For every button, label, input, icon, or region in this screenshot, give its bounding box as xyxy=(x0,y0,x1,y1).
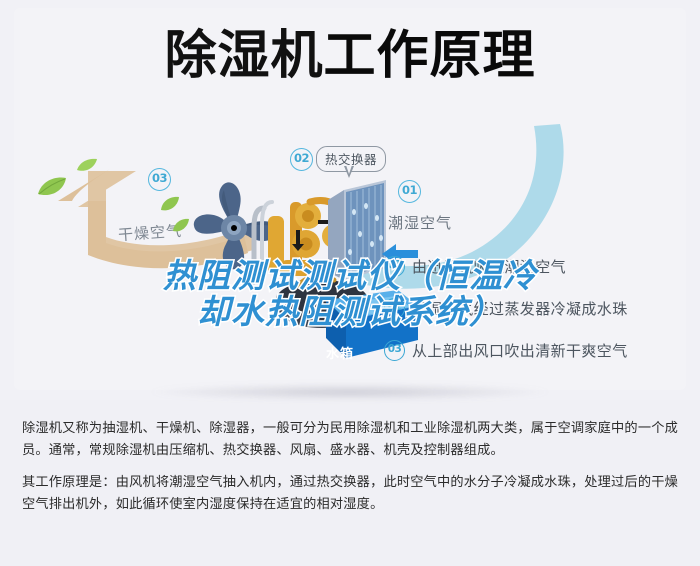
water-tank-label: 水箱 xyxy=(326,343,354,362)
page-title-part1: 除湿机 xyxy=(164,26,323,86)
badge-02-diagram: 02 xyxy=(290,148,313,171)
step-text: 潮湿空气经过蒸发器冷凝成水珠 xyxy=(412,298,628,319)
step-item: 03 从上部出风口吹出清新干爽空气 xyxy=(384,336,694,364)
infographic-banner: 除湿机工作原理 干燥空气 xyxy=(0,0,700,400)
step-number-badge: 03 xyxy=(384,340,405,361)
humid-air-label: 潮湿空气 xyxy=(388,212,452,233)
steps-list: 01 由迅风机吸入潮湿空气 02 潮湿空气经过蒸发器冷凝成水珠 03 从上部出风… xyxy=(384,252,694,378)
body-paragraph-2: 其工作原理是：由风机将潮湿空气抽入机内，通过热交换器，此时空气中的水分子冷凝成水… xyxy=(22,472,680,516)
step-number-badge: 02 xyxy=(384,298,405,319)
step-number-badge: 01 xyxy=(384,256,405,277)
step-text: 从上部出风口吹出清新干爽空气 xyxy=(412,340,628,361)
body-copy: 除湿机又称为抽湿机、干燥机、除湿器，一般可分为民用除湿机和工业除湿机两大类，属于… xyxy=(22,418,680,526)
page-title-part2: 工作原理 xyxy=(324,26,536,86)
step-text: 由迅风机吸入潮湿空气 xyxy=(412,256,566,277)
banner-shadow xyxy=(150,384,550,400)
body-paragraph-1: 除湿机又称为抽湿机、干燥机、除湿器，一般可分为民用除湿机和工业除湿机两大类，属于… xyxy=(22,418,680,462)
badge-01-diagram: 01 xyxy=(398,180,421,203)
leaf-icon xyxy=(36,176,68,202)
step-item: 02 潮湿空气经过蒸发器冷凝成水珠 xyxy=(384,294,694,322)
leaf-icon xyxy=(76,158,98,177)
badge-03-diagram: 03 xyxy=(148,168,171,191)
leaf-icon xyxy=(160,196,180,216)
page-title: 除湿机工作原理 xyxy=(0,30,700,82)
callout-tail-inner xyxy=(346,165,352,174)
step-item: 01 由迅风机吸入潮湿空气 xyxy=(384,252,694,280)
